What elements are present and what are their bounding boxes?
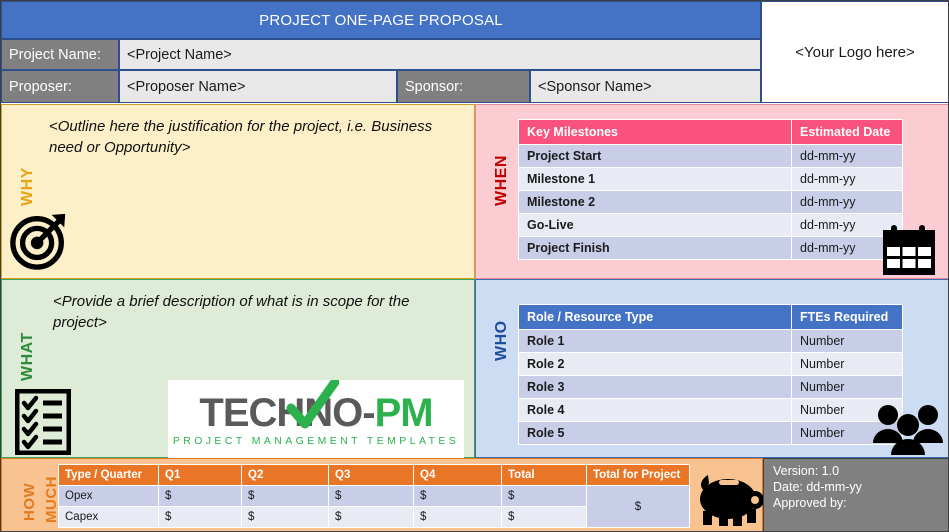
logo-text-part3: PM xyxy=(375,391,433,435)
logo-placeholder-text: <Your Logo here> xyxy=(795,44,915,61)
calendar-icon xyxy=(881,223,937,277)
cost-q1[interactable]: $ xyxy=(159,486,242,507)
section-label-how: HOW xyxy=(21,483,38,521)
role-name: Role 2 xyxy=(519,353,792,376)
green-checkmark-icon xyxy=(285,380,339,432)
table-row[interactable]: Opex $ $ $ $ $ $ xyxy=(59,486,690,507)
page-title: PROJECT ONE-PAGE PROPOSAL xyxy=(259,12,503,29)
milestone-name: Milestone 2 xyxy=(519,191,792,214)
milestone-name: Milestone 1 xyxy=(519,168,792,191)
table-row[interactable]: Role 3 Number xyxy=(519,376,903,399)
techno-pm-wordmark: TECHNO-PM xyxy=(199,392,432,434)
milestone-date: dd-mm-yy xyxy=(792,168,903,191)
column-header-key-milestones: Key Milestones xyxy=(519,120,792,145)
section-label-who: WHO xyxy=(493,320,511,361)
cost-q2[interactable]: $ xyxy=(242,507,329,528)
cost-q3[interactable]: $ xyxy=(329,486,414,507)
sponsor-label: Sponsor: xyxy=(397,70,530,103)
cost-table: Type / Quarter Q1 Q2 Q3 Q4 Total Total f… xyxy=(58,464,690,528)
table-row[interactable]: Milestone 2 dd-mm-yy xyxy=(519,191,903,214)
cost-type: Opex xyxy=(59,486,159,507)
proposer-label: Proposer: xyxy=(1,70,119,103)
sponsor-value: <Sponsor Name> xyxy=(538,79,652,95)
column-header-q1: Q1 xyxy=(159,465,242,486)
column-header-type-quarter: Type / Quarter xyxy=(59,465,159,486)
why-body-text[interactable]: <Outline here the justification for the … xyxy=(49,116,449,158)
table-row[interactable]: Milestone 1 dd-mm-yy xyxy=(519,168,903,191)
column-header-estimated-date: Estimated Date xyxy=(792,120,903,145)
table-header-row: Type / Quarter Q1 Q2 Q3 Q4 Total Total f… xyxy=(59,465,690,486)
logo-placeholder-box[interactable]: <Your Logo here> xyxy=(761,1,949,103)
column-header-total: Total xyxy=(502,465,587,486)
cost-q2[interactable]: $ xyxy=(242,486,329,507)
section-label-when: WHEN xyxy=(493,155,511,206)
milestones-table: Key Milestones Estimated Date Project St… xyxy=(518,119,903,260)
table-row[interactable]: Role 1 Number xyxy=(519,330,903,353)
sponsor-label-text: Sponsor: xyxy=(405,79,463,95)
date-line: Date: dd-mm-yy xyxy=(773,479,862,495)
table-row[interactable]: Role 5 Number xyxy=(519,422,903,445)
project-one-page-proposal: PROJECT ONE-PAGE PROPOSAL Project Name: … xyxy=(0,0,949,532)
column-header-ftes-required: FTEs Required xyxy=(792,305,903,330)
table-row[interactable]: Project Finish dd-mm-yy xyxy=(519,237,903,260)
column-header-q3: Q3 xyxy=(329,465,414,486)
column-header-total-for-project: Total for Project xyxy=(587,465,690,486)
table-header-row: Role / Resource Type FTEs Required xyxy=(519,305,903,330)
section-label-why: WHY xyxy=(19,167,37,206)
version-block-text: Version: 1.0 Date: dd-mm-yy Approved by: xyxy=(773,463,862,511)
checklist-icon xyxy=(15,389,71,455)
role-ftes: Number xyxy=(792,353,903,376)
techno-pm-logo: TECHNO-PM PROJECT MANAGEMENT TEMPLATES xyxy=(168,380,464,458)
proposer-value: <Proposer Name> xyxy=(127,79,245,95)
role-ftes: Number xyxy=(792,330,903,353)
cost-q4[interactable]: $ xyxy=(414,486,502,507)
role-name: Role 5 xyxy=(519,422,792,445)
milestone-name: Go-Live xyxy=(519,214,792,237)
role-name: Role 1 xyxy=(519,330,792,353)
piggy-bank-icon xyxy=(695,467,763,529)
version-line: Version: 1.0 xyxy=(773,463,862,479)
project-name-field[interactable]: <Project Name> xyxy=(119,39,761,70)
table-row[interactable]: Go-Live dd-mm-yy xyxy=(519,214,903,237)
section-label-what: WHAT xyxy=(19,332,37,381)
total-for-project-value: $ xyxy=(587,486,690,528)
table-row[interactable]: Project Start dd-mm-yy xyxy=(519,145,903,168)
proposer-label-text: Proposer: xyxy=(9,79,72,95)
role-name: Role 4 xyxy=(519,399,792,422)
role-ftes: Number xyxy=(792,376,903,399)
approved-by-line: Approved by: xyxy=(773,495,862,511)
milestone-name: Project Finish xyxy=(519,237,792,260)
milestone-date: dd-mm-yy xyxy=(792,191,903,214)
role-name: Role 3 xyxy=(519,376,792,399)
column-header-q2: Q2 xyxy=(242,465,329,486)
cost-q1[interactable]: $ xyxy=(159,507,242,528)
milestone-name: Project Start xyxy=(519,145,792,168)
roles-table: Role / Resource Type FTEs Required Role … xyxy=(518,304,903,445)
logo-tagline: PROJECT MANAGEMENT TEMPLATES xyxy=(173,435,459,447)
proposer-field[interactable]: <Proposer Name> xyxy=(119,70,397,103)
cost-q4[interactable]: $ xyxy=(414,507,502,528)
cost-q3[interactable]: $ xyxy=(329,507,414,528)
cost-type: Capex xyxy=(59,507,159,528)
what-body-text[interactable]: <Provide a brief description of what is … xyxy=(53,291,453,333)
cost-total: $ xyxy=(502,507,587,528)
table-row[interactable]: Role 4 Number xyxy=(519,399,903,422)
people-icon xyxy=(873,403,943,455)
target-icon xyxy=(9,209,71,271)
sponsor-field[interactable]: <Sponsor Name> xyxy=(530,70,761,103)
table-row[interactable]: Role 2 Number xyxy=(519,353,903,376)
cost-total: $ xyxy=(502,486,587,507)
page-title-banner: PROJECT ONE-PAGE PROPOSAL xyxy=(1,1,761,39)
column-header-role-resource-type: Role / Resource Type xyxy=(519,305,792,330)
project-name-value: <Project Name> xyxy=(127,47,232,63)
table-header-row: Key Milestones Estimated Date xyxy=(519,120,903,145)
project-name-label-text: Project Name: xyxy=(9,47,101,63)
project-name-label: Project Name: xyxy=(1,39,119,70)
column-header-q4: Q4 xyxy=(414,465,502,486)
milestone-date: dd-mm-yy xyxy=(792,145,903,168)
